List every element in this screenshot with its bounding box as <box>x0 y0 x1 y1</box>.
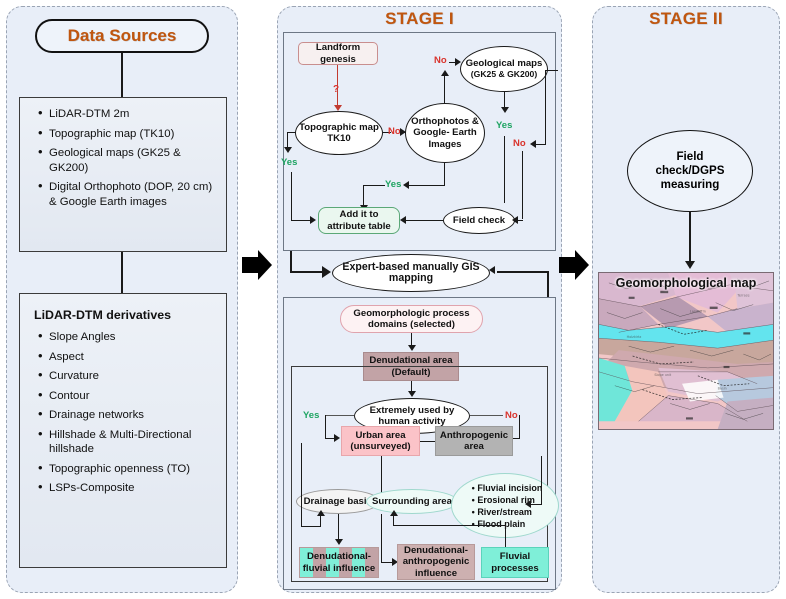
data-sources-list: LiDAR-DTM 2m Topographic map (TK10) Geol… <box>20 98 226 209</box>
list-item: Curvature <box>40 369 220 384</box>
connector-yes2-v <box>363 185 364 207</box>
list-item: Flood plain <box>472 518 543 530</box>
node-den-anthro-line1: Denudational- <box>403 545 470 556</box>
connector-urban-anthro <box>420 441 435 442</box>
connector-drainage-down <box>338 514 339 541</box>
list-item: LiDAR-DTM 2m <box>40 107 220 122</box>
connector-surround-to-fluvial-h <box>393 525 505 526</box>
label-yes-bottom: Yes <box>303 410 319 421</box>
list-item: Geological maps (GK25 & GK200) <box>40 146 220 175</box>
node-extremely-line1: Extremely used by <box>370 405 455 416</box>
block-arrow-data-to-stage1 <box>240 248 274 282</box>
arrowhead-up-icon <box>390 510 398 516</box>
arrowhead-down-icon <box>685 261 695 269</box>
node-geological-maps[interactable]: Geological maps (GK25 & GK200) <box>460 46 548 92</box>
arrowhead-up-icon <box>441 70 449 76</box>
node-denudational-line1: Denudational area <box>369 355 452 366</box>
connector-yes2-h <box>408 185 445 186</box>
connector-bottomframe-to-expert-v <box>547 271 549 297</box>
arrowhead-left-icon <box>512 216 518 224</box>
connector-ortho-down <box>444 163 445 186</box>
connector-anthro-to-fluvial-h <box>531 504 542 505</box>
node-landform-genesis[interactable]: Landform genesis <box>298 42 378 65</box>
stage2-title: STAGE II <box>592 9 780 29</box>
node-den-anthro-line2: anthropogenic <box>403 556 470 567</box>
node-orthophotos-line3: Images <box>411 139 479 150</box>
arrowhead-down-icon <box>501 107 509 113</box>
arrowhead-left-icon <box>530 140 536 148</box>
panel-data-sources: Data Sources LiDAR-DTM 2m Topographic ma… <box>6 6 238 593</box>
arrowhead-right-icon <box>310 216 316 224</box>
node-anthropogenic-area[interactable]: Anthropogenic area <box>435 426 513 456</box>
geomorphological-map-label: Geomorphological map <box>599 276 773 290</box>
connector-no-bottom-h <box>470 415 503 416</box>
node-add-attribute-line1: Add it to <box>327 209 390 220</box>
connector-no3-down <box>522 151 523 219</box>
connector-geo-right-down <box>545 70 546 145</box>
node-geological-maps-line1: Geological maps <box>466 58 543 69</box>
data-sources-title: Data Sources <box>35 19 209 53</box>
connector-geo-right <box>546 70 558 71</box>
list-item: Digital Orthophoto (DOP, 20 cm) & Google… <box>40 180 220 209</box>
node-den-anthro-line3: influence <box>403 568 470 579</box>
node-denudational-anthropogenic[interactable]: Denudational- anthropogenic influence <box>397 544 475 580</box>
connector-geo-yes-v1 <box>504 92 505 108</box>
connector-yes1-right <box>291 220 311 221</box>
node-anthro-line2: area <box>440 441 508 452</box>
node-denudational-fluvial[interactable]: Denudational- fluvial influence <box>299 547 379 578</box>
node-orthophotos-line2: Google- Earth <box>411 127 479 138</box>
node-fluvial-proc-line2: processes <box>491 563 538 574</box>
node-field-dgps-line1: Field <box>656 150 725 164</box>
label-no-3: No <box>513 138 526 149</box>
connector-yes-bottom-h <box>325 415 354 416</box>
list-item: Slope Angles <box>40 330 220 345</box>
arrowhead-right-icon <box>322 266 331 278</box>
svg-text:Landform: Landform <box>690 310 706 314</box>
arrowhead-down-icon <box>335 539 343 545</box>
node-topographic-map-line2: TK10 <box>299 133 379 144</box>
connector-yes-bottom-v <box>325 415 326 439</box>
list-item: Aspect <box>40 350 220 365</box>
list-item: Topographic map (TK10) <box>40 127 220 142</box>
node-topographic-map[interactable]: Topographic map TK10 <box>295 111 383 155</box>
arrowhead-left-icon <box>489 266 495 274</box>
list-item: Fluvial incision <box>472 482 543 494</box>
connector-topframe-to-expert-v <box>290 251 292 273</box>
node-anthro-line1: Anthropogenic <box>440 430 508 441</box>
connector-topframe-to-expert-h <box>290 271 324 273</box>
arrowhead-right-icon <box>455 58 461 66</box>
node-den-fluvial-line2: fluvial influence <box>303 563 376 574</box>
connector-loop-left-h <box>301 526 321 527</box>
label-no-bottom: No <box>505 410 518 421</box>
arrowhead-right-icon <box>400 128 406 136</box>
stage1-title: STAGE I <box>277 9 562 29</box>
node-expert-line2: mapping <box>342 273 479 284</box>
list-item: Contour <box>40 389 220 404</box>
node-geological-maps-line2: (GK25 & GK200) <box>466 69 543 80</box>
node-add-attribute-table[interactable]: Add it to attribute table <box>318 207 400 234</box>
list-item: Drainage networks <box>40 408 220 423</box>
data-sources-list-box: LiDAR-DTM 2m Topographic map (TK10) Geol… <box>19 97 227 252</box>
arrowhead-left-icon <box>525 500 531 508</box>
label-question: ? <box>333 84 339 95</box>
connector-loop-left-v <box>301 443 302 527</box>
lidar-derivatives-box: LiDAR-DTM derivatives Slope Angles Aspec… <box>19 293 227 568</box>
svg-text:Terrace: Terrace <box>736 294 749 298</box>
svg-text:Slope unit: Slope unit <box>654 373 672 377</box>
node-orthophotos-google-earth[interactable]: Orthophotos & Google- Earth Images <box>405 103 485 163</box>
map-graphic: Holzkirtz Landform Terrace Slope unit Ba… <box>599 273 773 429</box>
list-item: Topographic openness (TO) <box>40 462 220 477</box>
node-surrounding-area[interactable]: Surrounding area <box>366 489 458 514</box>
lidar-derivatives-header: LiDAR-DTM derivatives <box>20 294 226 326</box>
node-fluvial-processes[interactable]: Fluvial processes <box>481 547 549 578</box>
connector-box1-to-box2 <box>121 252 123 293</box>
connector-fieldcheck-to-add <box>406 220 443 221</box>
fluvial-feature-list: Fluvial incision Erosional rim River/str… <box>468 482 543 530</box>
arrowhead-down-icon <box>408 345 416 351</box>
node-den-fluvial-line1: Denudational- <box>303 551 376 562</box>
node-process-domains[interactable]: Geomorphologic process domains (selected… <box>340 305 483 333</box>
list-item: Hillshade & Multi-Directional hillshade <box>40 428 220 457</box>
connector-yes1-down <box>291 172 292 221</box>
node-process-domains-line1: Geomorphologic process <box>353 308 469 319</box>
node-field-check-dgps[interactable]: Field check/DGPS measuring <box>627 130 753 212</box>
connector-yes2-h2 <box>363 185 385 186</box>
connector-fieldcheck-to-map <box>689 211 691 263</box>
node-orthophotos-line1: Orthophotos & <box>411 116 479 127</box>
node-urban-area[interactable]: Urban area (unsurveyed) <box>341 426 420 456</box>
node-field-check[interactable]: Field check <box>443 207 515 234</box>
connector-surrounding-down <box>381 514 382 563</box>
arrowhead-up-icon <box>317 510 325 516</box>
list-item: River/stream <box>472 506 543 518</box>
node-fluvial-proc-line1: Fluvial <box>491 551 538 562</box>
node-expert-gis-mapping[interactable]: Expert-based manually GIS mapping <box>332 254 490 292</box>
arrowhead-right-icon <box>334 434 340 442</box>
label-yes-1: Yes <box>281 157 297 168</box>
connector-geo-yes-v2 <box>504 136 505 203</box>
node-urban-line2: (unsurveyed) <box>350 441 410 452</box>
connector-anthro-to-fluvial-v <box>541 456 542 505</box>
label-no-2: No <box>434 55 447 66</box>
connector-surround-up-v <box>393 516 394 526</box>
connector-pill-to-box1 <box>121 53 123 97</box>
connector-fluvial-join-v <box>505 525 506 539</box>
label-no-1: No <box>388 126 401 137</box>
list-item: LSPs-Composite <box>40 481 220 496</box>
block-arrow-stage1-to-stage2 <box>557 248 591 282</box>
connector-loop-up-v <box>320 516 321 527</box>
geomorphological-map-image: Holzkirtz Landform Terrace Slope unit Ba… <box>598 272 774 430</box>
arrowhead-left-icon <box>403 181 409 189</box>
label-yes-3: Yes <box>496 120 512 131</box>
connector-no-bottom-v <box>519 415 520 439</box>
svg-text:Holzkirtz: Holzkirtz <box>627 335 642 339</box>
connector-ortho-to-geo-v <box>444 76 445 104</box>
diagram-root: Data Sources LiDAR-DTM 2m Topographic ma… <box>0 0 786 599</box>
connector-bottomframe-to-expert-h <box>497 271 549 273</box>
arrowhead-down-icon <box>408 391 416 397</box>
connector-to-no3 <box>536 144 546 145</box>
node-add-attribute-line2: attribute table <box>327 221 390 232</box>
connector-topo-left-v <box>287 132 288 148</box>
node-field-dgps-line2: check/DGPS <box>656 164 725 178</box>
node-urban-line1: Urban area <box>350 430 410 441</box>
node-process-domains-line2: domains (selected) <box>353 319 469 330</box>
arrowhead-left-icon <box>400 216 406 224</box>
node-field-dgps-line3: measuring <box>656 178 725 192</box>
lidar-derivatives-list: Slope Angles Aspect Curvature Contour Dr… <box>20 326 226 496</box>
arrowhead-down-icon <box>284 147 292 153</box>
node-topographic-map-line1: Topographic map <box>299 122 379 133</box>
label-yes-2: Yes <box>385 179 401 190</box>
svg-text:Basin: Basin <box>718 387 727 391</box>
